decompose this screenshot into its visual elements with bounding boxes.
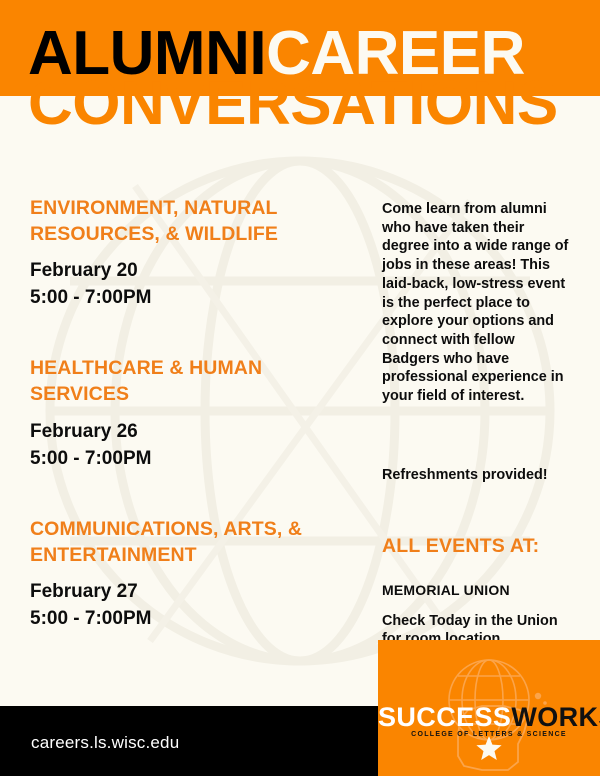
event-heading: HEALTHCARE & HUMAN SERVICES [30,356,360,407]
info-column: Come learn from alumni who have taken th… [382,200,572,649]
logo-tagline: COLLEGE OF LETTERS & SCIENCE [378,731,600,738]
page-title: ALUMNICAREER CONVERSATIONS [28,30,588,129]
venue-name: MEMORIAL UNION [382,582,572,598]
footer-url[interactable]: careers.ls.wisc.edu [31,733,179,753]
event-block: COMMUNICATIONS, ARTS, & ENTERTAINMENT Fe… [30,517,360,633]
event-time: 5:00 - 7:00PM [30,606,360,633]
logo-wordmark: SUCCESSWORKS [378,702,600,733]
event-time: 5:00 - 7:00PM [30,285,360,312]
event-heading: COMMUNICATIONS, ARTS, & ENTERTAINMENT [30,517,360,568]
logo-word-success: SUCCESS [378,702,511,732]
all-events-heading: ALL EVENTS AT: [382,535,572,558]
event-block: HEALTHCARE & HUMAN SERVICES February 26 … [30,356,360,472]
event-time: 5:00 - 7:00PM [30,446,360,473]
event-date: February 27 [30,579,360,606]
refreshments-text: Refreshments provided! [382,466,572,485]
poster-canvas: ALUMNICAREER CONVERSATIONS ENVIRONMENT, … [0,0,600,776]
event-date: February 26 [30,419,360,446]
successworks-logo: SUCCESSWORKS COLLEGE OF LETTERS & SCIENC… [378,640,600,776]
title-line-2: CONVERSATIONS [28,80,588,128]
event-date: February 20 [30,258,360,285]
events-column: ENVIRONMENT, NATURAL RESOURCES, & WILDLI… [30,196,360,633]
event-heading: ENVIRONMENT, NATURAL RESOURCES, & WILDLI… [30,196,360,247]
description-text: Come learn from alumni who have taken th… [382,200,572,406]
event-block: ENVIRONMENT, NATURAL RESOURCES, & WILDLI… [30,196,360,312]
logo-word-works: WORKS [511,702,600,732]
